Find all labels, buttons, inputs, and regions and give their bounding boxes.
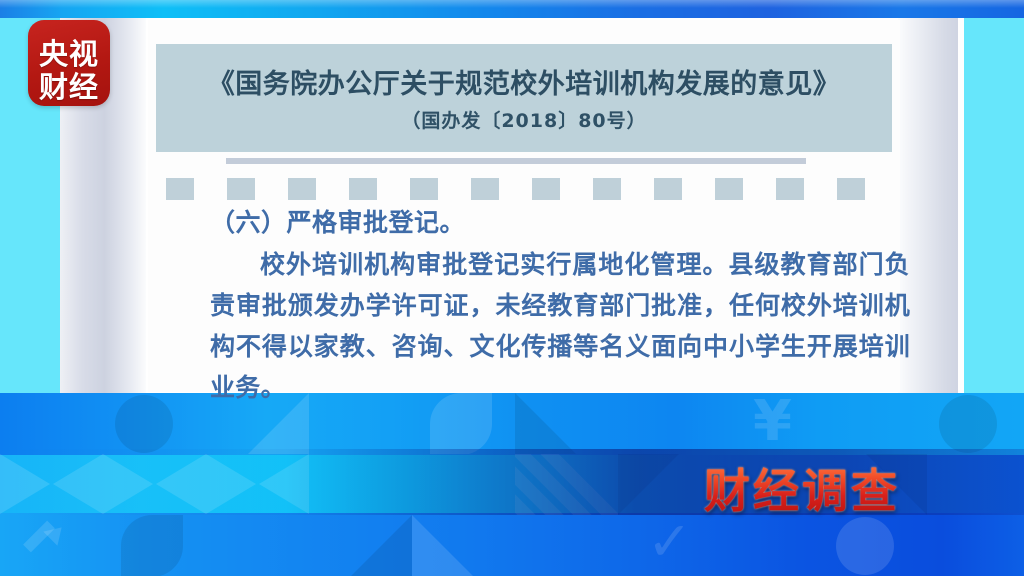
check-icon: ✓: [618, 515, 721, 573]
document-section-heading: （六）严格审批登记。: [210, 202, 910, 244]
mosaic-tile: [103, 515, 206, 576]
logo-line-2: 财经: [28, 64, 110, 106]
document-dash-row: [166, 178, 886, 200]
mosaic-tile: [515, 515, 618, 576]
right-cyan-strip: [956, 17, 1024, 393]
document-paragraph: 校外培训机构审批登记实行属地化管理。县级教育部门负责审批颁发办学许可证，未经教育…: [210, 244, 910, 408]
dash-mark: [532, 178, 560, 200]
mosaic-tile: [206, 515, 309, 576]
dash-mark: [227, 178, 255, 200]
document-subtitle: （国办发〔2018〕80号）: [156, 106, 892, 133]
mosaic-tile: [103, 393, 206, 454]
program-title-text: 财经调查: [688, 455, 916, 521]
broadcast-screen: 《国务院办公厅关于规范校外培训机构发展的意见》 （国办发〔2018〕80号） （…: [0, 0, 1024, 576]
dash-mark: [715, 178, 743, 200]
document-divider-rule: [226, 158, 806, 164]
mosaic-tile: [927, 393, 1024, 454]
mosaic-tile: [0, 393, 103, 454]
cctv-finance-logo: 央视 财经: [28, 20, 110, 106]
mosaic-tile: ✓: [618, 515, 721, 576]
policy-document-panel: 《国务院办公厅关于规范校外培训机构发展的意见》 （国办发〔2018〕80号） （…: [148, 20, 900, 392]
mosaic-tile: [824, 515, 927, 576]
top-strip-sheen: [0, 0, 1024, 8]
top-blue-strip: [0, 0, 1024, 18]
dash-mark: [166, 178, 194, 200]
dash-mark: [349, 178, 377, 200]
document-body: （六）严格审批登记。 校外培训机构审批登记实行属地化管理。县级教育部门负责审批颁…: [210, 202, 910, 408]
program-title-badge: 财经调查: [688, 455, 916, 517]
mosaic-tile: [309, 515, 412, 576]
dash-mark: [288, 178, 316, 200]
mosaic-tile: [412, 515, 515, 576]
mosaic-tile: [0, 515, 103, 576]
dash-mark: [410, 178, 438, 200]
mosaic-tile: [721, 515, 824, 576]
document-header-band: 《国务院办公厅关于规范校外培训机构发展的意见》 （国办发〔2018〕80号）: [156, 44, 892, 152]
document-title: 《国务院办公厅关于规范校外培训机构发展的意见》: [156, 62, 892, 101]
dash-mark: [776, 178, 804, 200]
dash-mark: [837, 178, 865, 200]
dash-mark: [593, 178, 621, 200]
dash-mark: [654, 178, 682, 200]
mosaic-tile: [927, 515, 1024, 576]
dash-mark: [471, 178, 499, 200]
